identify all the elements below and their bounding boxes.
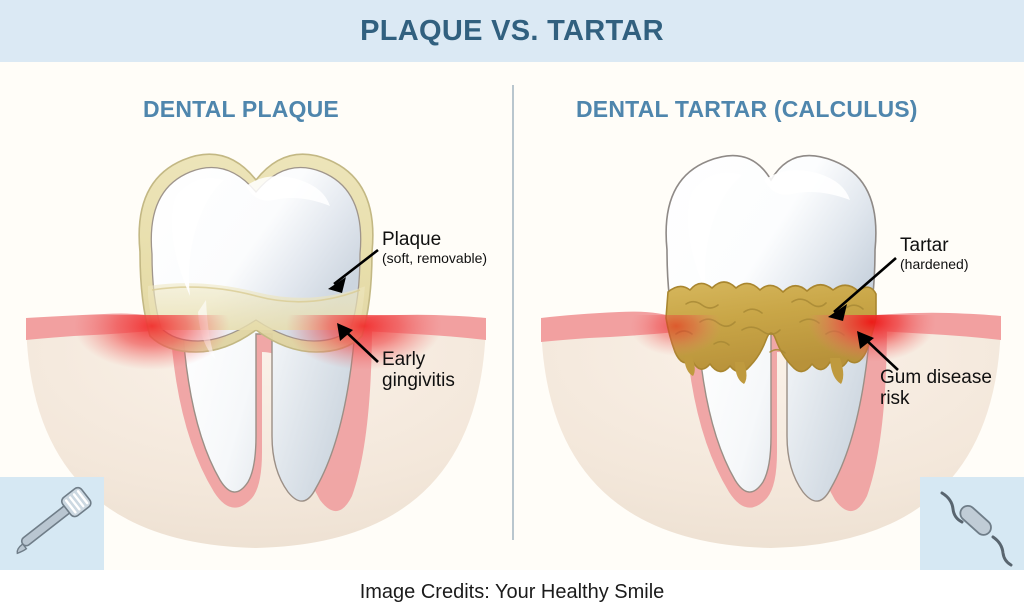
- annotation-gum-disease: Gum disease risk: [880, 367, 992, 410]
- toothbrush-icon: [0, 477, 104, 570]
- dental-scaler-icon: [920, 477, 1024, 570]
- annotation-tartar-label: Tartar: [900, 235, 969, 256]
- image-credit: Image Credits: Your Healthy Smile: [360, 581, 665, 604]
- panel-divider: [512, 85, 514, 540]
- annotation-plaque-sublabel: (soft, removable): [382, 251, 487, 267]
- annotation-gingivitis-label: Early: [382, 349, 455, 370]
- annotation-gingivitis: Early gingivitis: [382, 349, 455, 392]
- panel-title-plaque: DENTAL PLAQUE: [143, 96, 339, 123]
- annotation-gum-disease-sublabel: risk: [880, 388, 992, 409]
- annotation-gingivitis-sublabel: gingivitis: [382, 370, 455, 391]
- infographic-root: PLAQUE VS. TARTAR DENTAL PLAQUE DENTAL T…: [0, 0, 1024, 614]
- header-band: PLAQUE VS. TARTAR: [0, 0, 1024, 62]
- footer: Image Credits: Your Healthy Smile: [0, 570, 1024, 614]
- dental-scaler-tile: [920, 477, 1024, 570]
- page-title: PLAQUE VS. TARTAR: [360, 15, 664, 48]
- toothbrush-tile: [0, 477, 104, 570]
- annotation-gum-disease-label: Gum disease: [880, 367, 992, 388]
- annotation-plaque: Plaque (soft, removable): [382, 229, 487, 267]
- annotation-plaque-label: Plaque: [382, 229, 487, 250]
- annotation-tartar: Tartar (hardened): [900, 235, 969, 273]
- annotation-tartar-sublabel: (hardened): [900, 257, 969, 273]
- panel-title-tartar: DENTAL TARTAR (CALCULUS): [576, 96, 918, 123]
